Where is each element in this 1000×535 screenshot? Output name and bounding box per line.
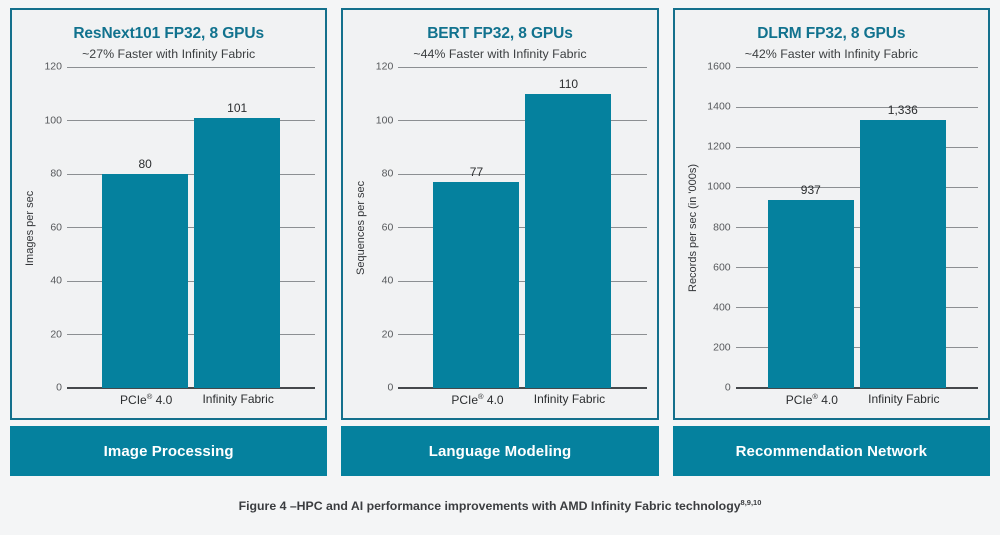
bar-column[interactable]: 937 <box>768 67 854 388</box>
y-tick-label: 120 <box>37 61 67 73</box>
bar-column[interactable]: 1,336 <box>860 67 946 388</box>
y-tick-label: 800 <box>700 221 736 233</box>
y-tick-label: 80 <box>37 168 67 180</box>
y-tick-label: 200 <box>700 341 736 353</box>
bars-layer: 9371,336 <box>736 67 978 388</box>
bar-value-label: 110 <box>508 77 628 91</box>
figure-caption: Figure 4 –HPC and AI performance improve… <box>10 498 990 513</box>
chart-footer-band: Recommendation Network <box>673 426 990 476</box>
x-axis-labels: PCIe® 4.0Infinity Fabric <box>738 388 978 414</box>
chart-panel-dlrm: DLRM FP32, 8 GPUs ~42% Faster with Infin… <box>673 8 990 480</box>
bars-layer: 80101 <box>67 67 315 388</box>
figure-caption-text: Figure 4 –HPC and AI performance improve… <box>239 499 741 513</box>
y-axis-title: Images per sec <box>24 143 36 313</box>
bar[interactable] <box>860 120 946 388</box>
y-axis-title: Records per sec (in '000s) <box>687 123 699 333</box>
y-tick-label: 80 <box>368 168 398 180</box>
bar[interactable] <box>525 94 611 388</box>
y-tick-label: 20 <box>37 328 67 340</box>
chart-panel-resnext101: ResNext101 FP32, 8 GPUs ~27% Faster with… <box>10 8 327 480</box>
bar-value-label: 937 <box>751 183 871 197</box>
x-tick-label: Infinity Fabric <box>526 392 612 414</box>
figure-caption-footnotes: 8,9,10 <box>741 498 762 507</box>
y-tick-label: 0 <box>37 382 67 394</box>
x-tick-label: Infinity Fabric <box>861 392 947 414</box>
bar-column[interactable]: 101 <box>194 67 280 388</box>
y-tick-label: 100 <box>368 114 398 126</box>
chart-footer-band: Language Modeling <box>341 426 658 476</box>
y-tick-label: 600 <box>700 261 736 273</box>
chart-footer-label: Language Modeling <box>429 443 572 460</box>
chart-footer-label: Recommendation Network <box>736 443 927 460</box>
y-tick-label: 0 <box>368 382 398 394</box>
bar[interactable] <box>768 200 854 388</box>
bar-value-label: 101 <box>177 101 297 115</box>
chart-title: DLRM FP32, 8 GPUs <box>685 24 978 44</box>
chart-footer-band: Image Processing <box>10 426 327 476</box>
bar[interactable] <box>433 182 519 388</box>
bar[interactable] <box>194 118 280 388</box>
bar[interactable] <box>102 174 188 388</box>
chart-title: ResNext101 FP32, 8 GPUs <box>22 24 315 44</box>
registered-mark: ® <box>812 392 818 401</box>
x-axis-labels: PCIe® 4.0Infinity Fabric <box>69 388 315 414</box>
plot-area: Sequences per sec 12010080604020077110 <box>353 67 646 388</box>
x-axis-labels: PCIe® 4.0Infinity Fabric <box>400 388 646 414</box>
y-tick-label: 40 <box>368 275 398 287</box>
plot-area: Records per sec (in '000s) 1600140012001… <box>685 67 978 388</box>
x-tick-label: Infinity Fabric <box>195 392 281 414</box>
x-tick-label: PCIe® 4.0 <box>103 392 189 414</box>
bar-column[interactable]: 110 <box>525 67 611 388</box>
y-tick-label: 120 <box>368 61 398 73</box>
registered-mark: ® <box>147 392 153 401</box>
chart-card: DLRM FP32, 8 GPUs ~42% Faster with Infin… <box>673 8 990 420</box>
y-tick-label: 0 <box>700 382 736 394</box>
plot-area: Images per sec 12010080604020080101 <box>22 67 315 388</box>
x-tick-label: PCIe® 4.0 <box>434 392 520 414</box>
y-tick-label: 1600 <box>700 61 736 73</box>
chart-title: BERT FP32, 8 GPUs <box>353 24 646 44</box>
y-tick-label: 60 <box>368 221 398 233</box>
bar-value-label: 1,336 <box>843 103 963 117</box>
plot-inner: 12010080604020077110 <box>368 67 646 388</box>
charts-row: ResNext101 FP32, 8 GPUs ~27% Faster with… <box>10 8 990 480</box>
plot-inner: 12010080604020080101 <box>37 67 315 388</box>
y-tick-label: 1400 <box>700 101 736 113</box>
chart-card: BERT FP32, 8 GPUs ~44% Faster with Infin… <box>341 8 658 420</box>
y-tick-label: 40 <box>37 275 67 287</box>
y-tick-label: 1200 <box>700 141 736 153</box>
y-tick-label: 1000 <box>700 181 736 193</box>
bar-column[interactable]: 80 <box>102 67 188 388</box>
chart-panel-bert: BERT FP32, 8 GPUs ~44% Faster with Infin… <box>341 8 658 480</box>
x-tick-label: PCIe® 4.0 <box>769 392 855 414</box>
chart-card: ResNext101 FP32, 8 GPUs ~27% Faster with… <box>10 8 327 420</box>
registered-mark: ® <box>478 392 484 401</box>
bar-value-label: 77 <box>416 165 536 179</box>
chart-footer-label: Image Processing <box>104 443 234 460</box>
y-tick-label: 20 <box>368 328 398 340</box>
bar-column[interactable]: 77 <box>433 67 519 388</box>
y-tick-label: 60 <box>37 221 67 233</box>
bar-value-label: 80 <box>85 157 205 171</box>
bars-layer: 77110 <box>398 67 646 388</box>
y-axis-title: Sequences per sec <box>355 123 367 333</box>
figure-container: ResNext101 FP32, 8 GPUs ~27% Faster with… <box>0 0 1000 535</box>
plot-inner: 160014001200100080060040020009371,336 <box>700 67 978 388</box>
y-tick-label: 400 <box>700 301 736 313</box>
y-tick-label: 100 <box>37 114 67 126</box>
